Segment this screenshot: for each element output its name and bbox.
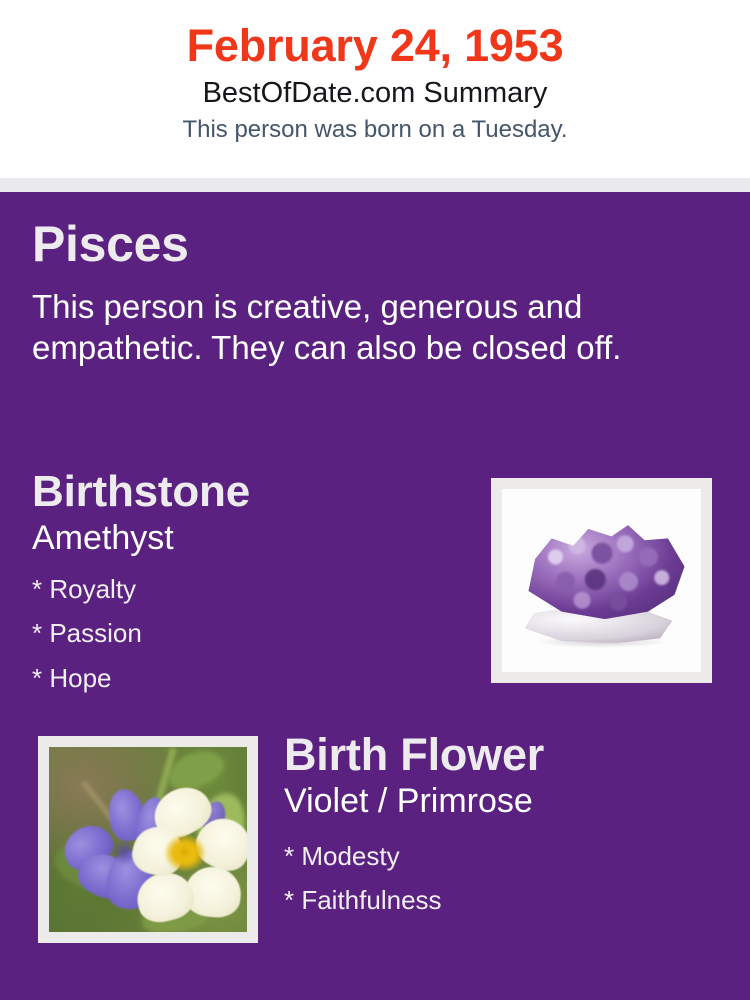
site-name: BestOfDate.com Summary [0, 75, 750, 111]
zodiac-description: This person is creative, generous and em… [32, 286, 702, 369]
list-item: * Passion [32, 611, 462, 656]
birthstone-name: Amethyst [32, 520, 462, 557]
list-item: * Modesty [284, 834, 724, 879]
list-item: * Faithfulness [284, 878, 724, 923]
birthstone-trait-list: * Royalty * Passion * Hope [32, 567, 462, 701]
amethyst-geode-icon [519, 525, 685, 643]
birthstone-photo-frame [491, 478, 712, 683]
header-divider [0, 178, 750, 192]
list-item: * Royalty [32, 567, 462, 612]
birth-weekday-text: This person was born on a Tuesday. [0, 115, 750, 145]
primrose-eye [177, 845, 193, 859]
details-panel: Pisces This person is creative, generous… [0, 192, 750, 1000]
birth-flower-name: Violet / Primrose [284, 783, 724, 820]
birthstone-title: Birthstone [32, 470, 462, 514]
zodiac-section: Pisces This person is creative, generous… [32, 219, 712, 369]
geode-crystals [519, 525, 685, 619]
birth-flower-photo [49, 747, 247, 932]
birth-flower-section: Birth Flower Violet / Primrose * Modesty… [284, 732, 724, 923]
page-title-date: February 24, 1953 [0, 22, 750, 69]
list-item: * Hope [32, 656, 462, 701]
zodiac-sign-title: Pisces [32, 219, 712, 269]
card-header: February 24, 1953 BestOfDate.com Summary… [0, 0, 750, 178]
birthstone-section: Birthstone Amethyst * Royalty * Passion … [32, 470, 462, 701]
birth-flower-trait-list: * Modesty * Faithfulness [284, 834, 724, 923]
birthstone-photo [502, 489, 701, 672]
birth-flower-title: Birth Flower [284, 732, 724, 777]
summary-card: February 24, 1953 BestOfDate.com Summary… [0, 0, 750, 1000]
birth-flower-photo-frame [38, 736, 258, 943]
